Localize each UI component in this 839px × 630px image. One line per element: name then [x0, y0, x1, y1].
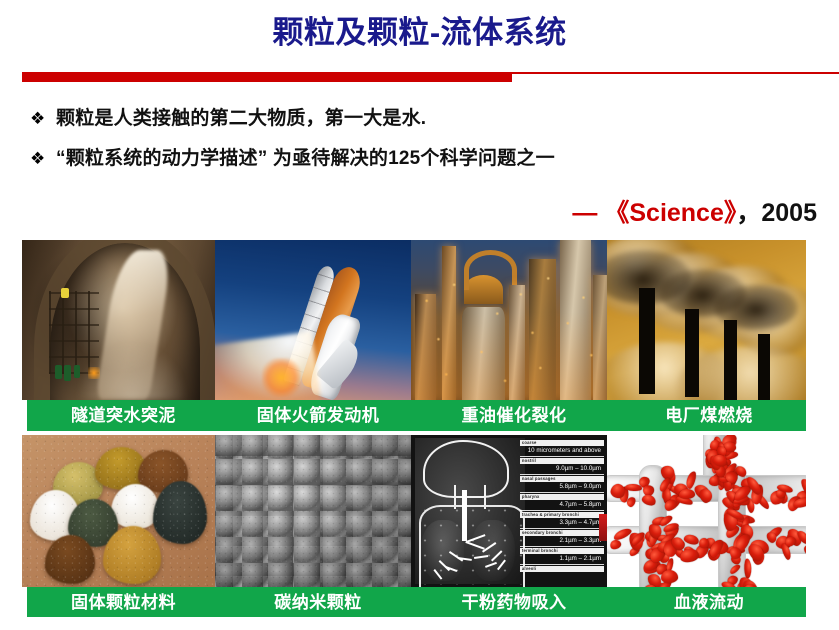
caption-rocket: 固体火箭发动机 [220, 400, 416, 431]
caption-tunnel: 隧道突水突泥 [27, 400, 220, 431]
bullet-text: 颗粒是人类接触的第二大物质，第一大是水. [56, 104, 426, 134]
legend-row: secondary bronchi 2.1µm – 3.3µm [517, 530, 607, 547]
caption-blood-flow: 血液流动 [612, 587, 806, 618]
solid-rocket-launch-photo [215, 240, 411, 400]
gallery-tile-coal-plant[interactable] [607, 240, 806, 400]
diamond-bullet-icon: ❖ [30, 104, 56, 134]
gallery-tile-rocket[interactable] [215, 240, 411, 400]
caption-coal-plant: 电厂煤燃烧 [612, 400, 806, 431]
list-item: ❖ 颗粒是人类接触的第二大物质，第一大是水. [30, 104, 839, 134]
granular-powder-samples-photo [22, 435, 215, 587]
bullet-list: ❖ 颗粒是人类接触的第二大物质，第一大是水. ❖ “颗粒系统的动力学描述” 为亟… [0, 104, 839, 184]
gallery-row-1: 隧道突水突泥 固体火箭发动机 重油催化裂化 电厂煤燃烧 [22, 240, 806, 431]
caption-bar-row-2: 固体颗粒材料 碳纳米颗粒 干粉药物吸入 血液流动 [27, 587, 806, 617]
divider-thick-bar [22, 72, 512, 82]
diamond-bullet-icon: ❖ [30, 144, 56, 174]
caption-nanoparticles: 碳纳米颗粒 [220, 587, 416, 618]
legend-row: alveoli [517, 566, 607, 572]
legend-row: trachea & primary bronchi 3.3µm – 4.7µm [517, 512, 607, 529]
carbon-nanoparticle-sem-image [215, 435, 411, 587]
blood-cell-flow-simulation [607, 435, 806, 587]
source-year: ，2005 [736, 199, 817, 227]
gallery-tile-tunnel[interactable] [22, 240, 215, 400]
source-journal: 《Science》 [604, 199, 736, 227]
gallery-tile-inhalation[interactable]: coarse 10 micrometers and above nostril … [411, 435, 607, 587]
source-dash: — [572, 199, 597, 227]
tunnel-water-inrush-photo [22, 240, 215, 400]
caption-inhalation: 干粉药物吸入 [416, 587, 612, 618]
refinery-fcc-photo [411, 240, 607, 400]
caption-refinery: 重油催化裂化 [416, 400, 612, 431]
page-title: 颗粒及颗粒-流体系统 [0, 12, 839, 54]
gallery-tile-powders[interactable] [22, 435, 215, 587]
caption-bar-row-1: 隧道突水突泥 固体火箭发动机 重油催化裂化 电厂煤燃烧 [27, 400, 806, 431]
source-attribution: — 《Science》，2005 [572, 196, 817, 230]
particle-size-legend: coarse 10 micrometers and above nostril … [517, 435, 607, 587]
gallery-row-2: coarse 10 micrometers and above nostril … [22, 435, 806, 617]
legend-row: nostril 9.0µm – 10.0µm [517, 458, 607, 475]
legend-row: pharynx 4.7µm – 5.8µm [517, 494, 607, 511]
caption-powders: 固体颗粒材料 [27, 587, 220, 618]
gallery-tile-nanoparticles[interactable] [215, 435, 411, 587]
image-gallery: 隧道突水突泥 固体火箭发动机 重油催化裂化 电厂煤燃烧 [22, 240, 806, 617]
gallery-tile-blood-flow[interactable] [607, 435, 806, 587]
bullet-text: “颗粒系统的动力学描述” 为亟待解决的125个科学问题之一 [56, 144, 555, 174]
legend-row: terminal bronchi 1.1µm – 2.1µm [517, 548, 607, 565]
legend-row: nasal passages 5.8µm – 9.0µm [517, 476, 607, 493]
respiratory-deposition-diagram: coarse 10 micrometers and above nostril … [411, 435, 607, 587]
legend-row: coarse 10 micrometers and above [517, 440, 607, 457]
divider-thin-line [512, 72, 839, 74]
gallery-tile-refinery[interactable] [411, 240, 607, 400]
list-item: ❖ “颗粒系统的动力学描述” 为亟待解决的125个科学问题之一 [30, 144, 839, 174]
title-divider [0, 68, 839, 82]
coal-power-plant-smokestacks-photo [607, 240, 806, 400]
red-edge-strip [599, 514, 607, 541]
